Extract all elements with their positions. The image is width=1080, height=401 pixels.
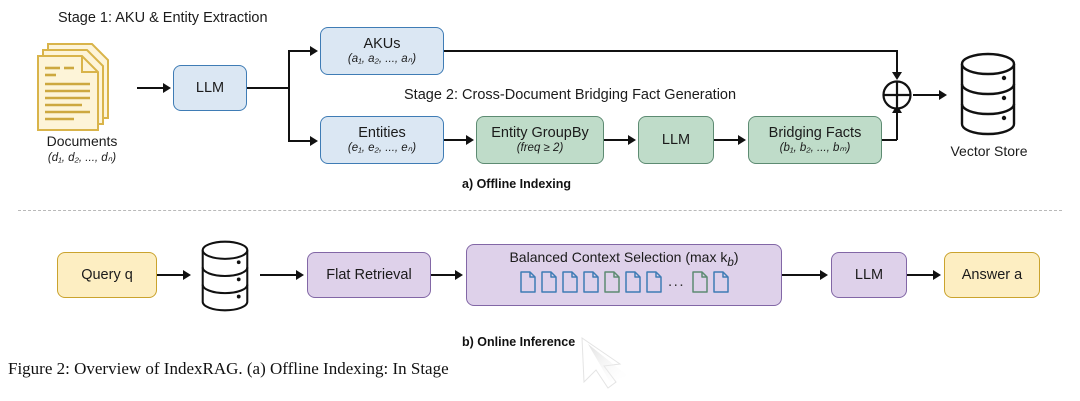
node-query-title: Query q bbox=[81, 267, 133, 283]
node-balanced-context-selection-title: Balanced Context Selection (max kb) bbox=[509, 250, 738, 269]
connector-bridging-to-merge-vertical bbox=[896, 112, 898, 140]
stage-2-label: Stage 2: Cross-Document Bridging Fact Ge… bbox=[404, 87, 736, 103]
node-akus[interactable]: AKUs (a₁, a₂, ..., aₙ) bbox=[320, 27, 444, 75]
document-icon-blue bbox=[712, 271, 729, 293]
arrowhead-merge-vectorstore bbox=[939, 90, 947, 100]
stage-1-label: Stage 1: AKU & Entity Extraction bbox=[58, 10, 268, 26]
documents-sublabel: (d₁, d₂, ..., dₙ) bbox=[12, 150, 152, 164]
connector-llm-to-entities bbox=[288, 140, 310, 142]
node-llm-stage1-title: LLM bbox=[196, 80, 224, 96]
connector-llm-answer bbox=[907, 274, 933, 276]
connector-llm2-bridging bbox=[714, 139, 738, 141]
connector-merge-vectorstore bbox=[913, 94, 939, 96]
connector-store-retrieval bbox=[260, 274, 296, 276]
node-balanced-context-selection[interactable]: Balanced Context Selection (max kb) ... bbox=[466, 244, 782, 306]
figure-overview-indexrag: Stage 1: AKU & Entity Extraction Documen… bbox=[0, 0, 1080, 401]
arrowhead-llm-to-entities bbox=[310, 136, 318, 146]
node-llm-inference[interactable]: LLM bbox=[831, 252, 907, 298]
connector-documents-llm bbox=[137, 87, 163, 89]
arrowhead-retrieval-context bbox=[455, 270, 463, 280]
node-flat-retrieval-title: Flat Retrieval bbox=[326, 267, 411, 283]
documents-label: Documents bbox=[12, 133, 152, 149]
document-icon-green bbox=[603, 271, 620, 293]
figure-caption-line1: Figure 2: Overview of IndexRAG. (a) Offl… bbox=[8, 358, 1068, 380]
node-flat-retrieval[interactable]: Flat Retrieval bbox=[307, 252, 431, 298]
database-cylinder-icon bbox=[955, 52, 1021, 136]
document-icon-blue bbox=[561, 271, 578, 293]
node-bridging-facts-title: Bridging Facts bbox=[769, 125, 862, 141]
node-llm-stage2[interactable]: LLM bbox=[638, 116, 714, 164]
arrowhead-llm-answer bbox=[933, 270, 941, 280]
document-icon-blue bbox=[582, 271, 599, 293]
document-stack-icon bbox=[30, 38, 134, 134]
node-entities[interactable]: Entities (e₁, e₂, ..., eₙ) bbox=[320, 116, 444, 164]
connector-entities-groupby bbox=[444, 139, 466, 141]
document-icon-green bbox=[691, 271, 708, 293]
arrowhead-llm2-bridging bbox=[738, 135, 746, 145]
bcs-title-tail: ) bbox=[734, 249, 739, 265]
node-akus-subtitle: (a₁, a₂, ..., aₙ) bbox=[348, 53, 416, 66]
arrowhead-query-store bbox=[183, 270, 191, 280]
arrowhead-entities-groupby bbox=[466, 135, 474, 145]
node-bridging-facts-subtitle: (b₁, b₂, ..., bₘ) bbox=[780, 142, 851, 155]
vector-store-label: Vector Store bbox=[930, 143, 1048, 159]
connector-groupby-llm2 bbox=[604, 139, 628, 141]
connector-bridging-to-merge bbox=[882, 139, 897, 141]
connector-context-llm bbox=[782, 274, 820, 276]
node-entities-title: Entities bbox=[358, 125, 406, 141]
node-akus-title: AKUs bbox=[363, 36, 400, 52]
arrowhead-documents-llm bbox=[163, 83, 171, 93]
arrowhead-store-retrieval bbox=[296, 270, 304, 280]
node-llm-stage2-title: LLM bbox=[662, 132, 690, 148]
context-document-icons: ... bbox=[467, 271, 781, 293]
connector-llm-to-akus bbox=[288, 50, 310, 52]
connector-llm-split bbox=[247, 87, 289, 89]
arrowhead-context-llm bbox=[820, 270, 828, 280]
document-icon-blue bbox=[645, 271, 662, 293]
document-icon-blue bbox=[540, 271, 557, 293]
node-answer-title: Answer a bbox=[962, 267, 1022, 283]
document-icon-blue bbox=[624, 271, 641, 293]
document-icon-blue bbox=[519, 271, 536, 293]
node-entity-groupby-subtitle: (freq ≥ 2) bbox=[517, 142, 564, 155]
connector-query-store bbox=[157, 274, 183, 276]
connector-llm-split-vertical bbox=[288, 50, 290, 142]
document-ellipsis: ... bbox=[666, 274, 687, 291]
node-llm-inference-title: LLM bbox=[855, 267, 883, 283]
circled-plus-icon bbox=[879, 77, 915, 113]
database-cylinder-icon bbox=[196, 240, 254, 312]
node-query[interactable]: Query q bbox=[57, 252, 157, 298]
connector-akus-to-merge bbox=[444, 50, 898, 52]
bcs-title-main: Balanced Context Selection (max k bbox=[509, 249, 727, 265]
panel-b-caption: b) Online Inference bbox=[462, 335, 575, 349]
figure-caption: Figure 2: Overview of IndexRAG. (a) Offl… bbox=[8, 358, 1068, 380]
node-answer[interactable]: Answer a bbox=[944, 252, 1040, 298]
node-entity-groupby-title: Entity GroupBy bbox=[491, 125, 589, 141]
panel-divider bbox=[18, 210, 1062, 211]
node-bridging-facts[interactable]: Bridging Facts (b₁, b₂, ..., bₘ) bbox=[748, 116, 882, 164]
arrowhead-groupby-llm2 bbox=[628, 135, 636, 145]
node-llm-stage1[interactable]: LLM bbox=[173, 65, 247, 111]
node-entities-subtitle: (e₁, e₂, ..., eₙ) bbox=[348, 142, 416, 155]
arrowhead-llm-to-akus bbox=[310, 46, 318, 56]
panel-a-caption: a) Offline Indexing bbox=[462, 177, 571, 191]
node-entity-groupby[interactable]: Entity GroupBy (freq ≥ 2) bbox=[476, 116, 604, 164]
connector-retrieval-context bbox=[431, 274, 455, 276]
